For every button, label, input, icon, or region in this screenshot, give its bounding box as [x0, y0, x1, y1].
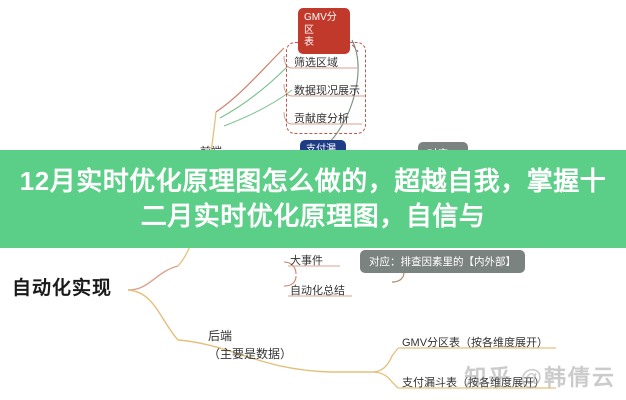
- overlay-title-text: 12月实时优化原理图怎么做的，超越自我，掌握十二月实时优化原理图，自信与: [0, 150, 626, 248]
- screenshot-canvas: GMV分区 表 支付漏 斗表 筛选区域 数据现况展示 贡献度分析 前端 自动化实…: [0, 0, 626, 400]
- leaf-filter-region[interactable]: 筛选区域: [294, 54, 338, 70]
- node-major-event[interactable]: 大事件: [290, 252, 323, 268]
- branch-label-backend[interactable]: 后端 （主要是数据）: [208, 327, 292, 363]
- root-node-automation[interactable]: 自动化实现: [12, 277, 112, 301]
- leaf-data-status-display[interactable]: 数据现况展示: [294, 82, 360, 98]
- annotation-pill-internal-external[interactable]: 对应：排查因素里的【内外部】: [360, 250, 525, 273]
- node-gmv-partition-by-dimension[interactable]: GMV分区表（按各维度展开）: [402, 334, 548, 350]
- leaf-contribution-analysis[interactable]: 贡献度分析: [294, 110, 349, 126]
- watermark-text: 知乎 @韩倩云: [464, 360, 616, 392]
- chip-gmv-partition-table[interactable]: GMV分区 表: [298, 8, 350, 54]
- node-automation-summary[interactable]: 自动化总结: [290, 282, 345, 298]
